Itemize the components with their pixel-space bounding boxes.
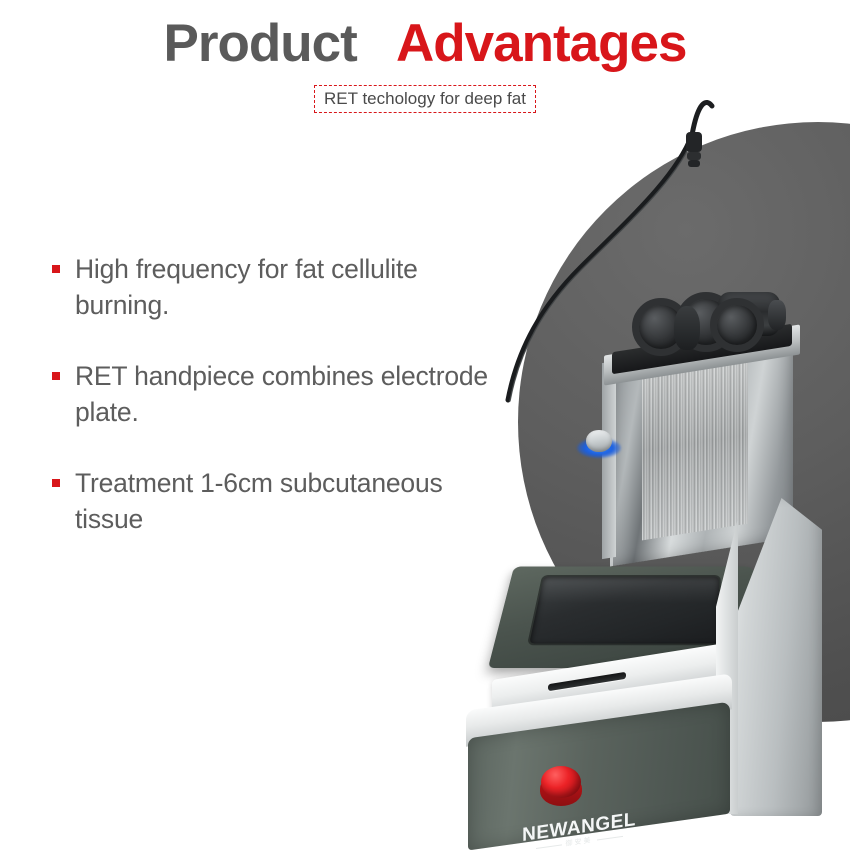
handpiece-neck	[674, 306, 700, 350]
handpiece-tower	[602, 332, 798, 562]
touchscreen-display[interactable]	[529, 576, 719, 643]
poster-canvas: Product Advantages RET techology for dee…	[0, 0, 850, 743]
title-part-product: Product	[164, 14, 357, 73]
product-illustration: NEWANGEL 御安美	[430, 100, 850, 743]
advantages-list: High frequency for fat cellulite burning…	[52, 252, 492, 537]
list-item: High frequency for fat cellulite burning…	[52, 252, 492, 323]
page-title: Product Advantages	[0, 16, 850, 72]
bullet-square-icon	[52, 479, 60, 487]
logo-dash-left	[536, 844, 562, 849]
title-space	[371, 14, 385, 73]
estop-cap	[541, 766, 581, 798]
list-item: Treatment 1-6cm subcutaneous tissue	[52, 466, 492, 537]
bullet-square-icon	[52, 265, 60, 273]
logo-dash-right	[597, 836, 623, 841]
title-part-advantages: Advantages	[396, 14, 686, 73]
list-item: RET handpiece combines electrode plate.	[52, 359, 492, 430]
handpiece-cap-right	[768, 300, 786, 330]
brand-sub-characters: 御安美	[566, 837, 593, 848]
power-button[interactable]	[582, 430, 616, 456]
emergency-stop-button[interactable]	[540, 766, 582, 808]
bullet-square-icon	[52, 372, 60, 380]
screen-glare	[538, 576, 719, 603]
lower-cabinet: NEWANGEL 御安美	[466, 692, 732, 824]
handpiece-ring-right	[710, 298, 764, 352]
tower-left-edge	[602, 361, 616, 559]
power-button-cap	[586, 430, 612, 452]
